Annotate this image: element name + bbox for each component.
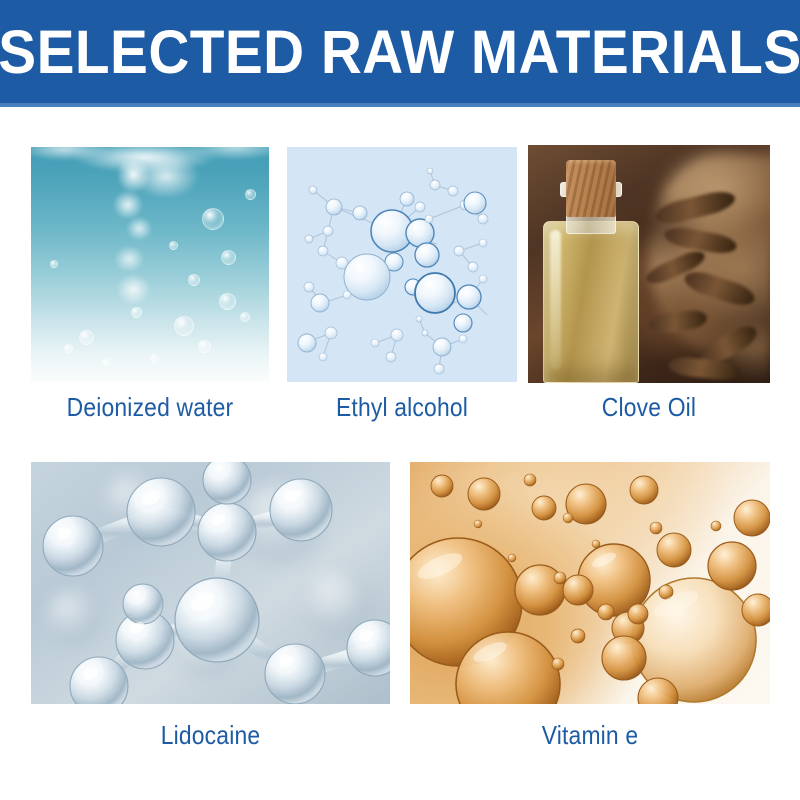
- oil-bottle: [543, 164, 640, 383]
- tile-label-vitamin-e: Vitamin e: [432, 720, 749, 751]
- water-splash-photo: [31, 147, 269, 382]
- tile-deionized-water[interactable]: [31, 147, 269, 382]
- molecule-ball-and-stick-graphic: [31, 462, 390, 704]
- molecule-network-graphic: [287, 147, 517, 382]
- cork-stopper: [566, 160, 616, 217]
- tile-clove-oil[interactable]: [528, 145, 770, 383]
- tile-label-clove-oil: Clove Oil: [543, 392, 756, 423]
- tile-ethyl-alcohol[interactable]: [287, 147, 517, 382]
- molecule-spheres-illustration: [287, 147, 517, 382]
- header-underline-rule: [0, 103, 800, 107]
- tile-label-deionized-water: Deionized water: [45, 392, 254, 423]
- raw-materials-poster: SELECTED RAW MATERIALS Deionized water: [0, 0, 800, 800]
- amber-oil-bubbles-photo: [410, 462, 770, 704]
- oil-droplets-graphic: [410, 462, 770, 704]
- glass-molecule-model-render: [31, 462, 390, 704]
- tile-label-lidocaine: Lidocaine: [53, 720, 369, 751]
- clove-oil-bottle-photo: [528, 145, 770, 383]
- page-title: SELECTED RAW MATERIALS: [28, 0, 772, 103]
- tile-label-ethyl-alcohol: Ethyl alcohol: [301, 392, 503, 423]
- tile-lidocaine[interactable]: [31, 462, 390, 704]
- tile-vitamin-e[interactable]: [410, 462, 770, 704]
